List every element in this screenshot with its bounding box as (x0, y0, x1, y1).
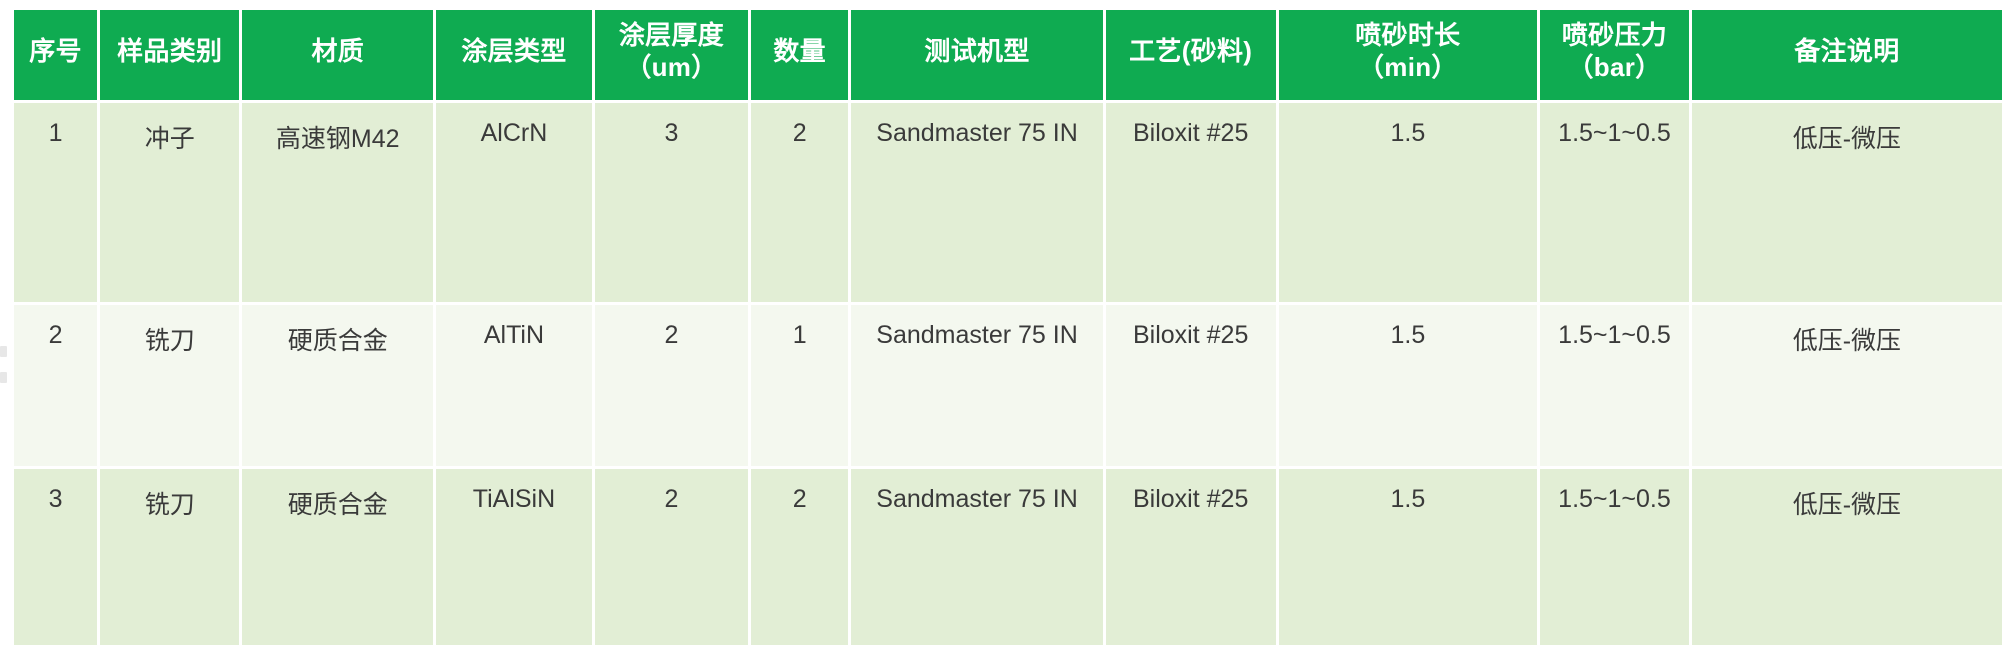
column-header-seq-label: 序号 (29, 36, 82, 66)
cell-sample-category: 冲子 (100, 103, 239, 302)
cell-quantity: 1 (751, 305, 848, 466)
column-header-coating-thickness: 涂层厚度 （um） (595, 10, 748, 100)
column-header-test-machine-label: 测试机型 (924, 36, 1029, 66)
column-header-blast-time-label: 喷砂时长 (1355, 20, 1460, 50)
cut-off-text-artifact (0, 346, 7, 357)
table-row: 2 铣刀 硬质合金 AlTiN 2 1 Sandmaster 75 IN Bil… (14, 305, 2002, 466)
column-header-blast-time-unit: （min） (1281, 52, 1536, 84)
column-header-process-media-label: 工艺(砂料) (1129, 36, 1252, 66)
table-row: 1 冲子 高速钢M42 AlCrN 3 2 Sandmaster 75 IN B… (14, 103, 2002, 302)
column-header-blast-pressure-label: 喷砂压力 (1562, 20, 1667, 50)
cell-coating-thickness: 2 (595, 469, 748, 645)
cell-blast-pressure: 1.5~1~0.5 (1540, 469, 1689, 645)
cell-seq: 2 (14, 305, 97, 466)
cell-coating-type: TiAlSiN (436, 469, 592, 645)
cell-material: 高速钢M42 (242, 103, 433, 302)
spec-table-container: 序号 样品类别 材质 涂层类型 涂层厚度 （um） (11, 7, 2005, 631)
column-header-coating-type: 涂层类型 (436, 10, 592, 100)
cell-coating-thickness: 2 (595, 305, 748, 466)
column-header-material: 材质 (242, 10, 433, 100)
column-header-blast-pressure-unit: （bar） (1542, 52, 1687, 84)
cell-material: 硬质合金 (242, 469, 433, 645)
cell-quantity: 2 (751, 469, 848, 645)
column-header-coating-thickness-label: 涂层厚度 (619, 20, 724, 50)
table-header: 序号 样品类别 材质 涂层类型 涂层厚度 （um） (14, 10, 2002, 100)
cell-sample-category: 铣刀 (100, 305, 239, 466)
cell-remarks: 低压-微压 (1692, 469, 2002, 645)
column-header-quantity: 数量 (751, 10, 848, 100)
column-header-quantity-label: 数量 (773, 36, 826, 66)
cell-coating-thickness: 3 (595, 103, 748, 302)
table-header-row: 序号 样品类别 材质 涂层类型 涂层厚度 （um） (14, 10, 2002, 100)
column-header-sample-category-label: 样品类别 (117, 36, 222, 66)
column-header-coating-thickness-unit: （um） (597, 52, 746, 84)
cell-blast-pressure: 1.5~1~0.5 (1540, 103, 1689, 302)
cell-process-media: Biloxit #25 (1106, 469, 1276, 645)
sandblasting-spec-table: 序号 样品类别 材质 涂层类型 涂层厚度 （um） (11, 7, 2005, 648)
column-header-coating-type-label: 涂层类型 (461, 36, 566, 66)
cell-blast-time: 1.5 (1279, 469, 1538, 645)
cell-blast-pressure: 1.5~1~0.5 (1540, 305, 1689, 466)
column-header-blast-time: 喷砂时长 （min） (1279, 10, 1538, 100)
cell-seq: 3 (14, 469, 97, 645)
column-header-remarks-label: 备注说明 (1794, 36, 1899, 66)
cut-off-text-artifact (0, 372, 7, 383)
cell-process-media: Biloxit #25 (1106, 305, 1276, 466)
table-body: 1 冲子 高速钢M42 AlCrN 3 2 Sandmaster 75 IN B… (14, 103, 2002, 645)
column-header-test-machine: 测试机型 (851, 10, 1103, 100)
cell-coating-type: AlTiN (436, 305, 592, 466)
cell-seq: 1 (14, 103, 97, 302)
cell-process-media: Biloxit #25 (1106, 103, 1276, 302)
column-header-blast-pressure: 喷砂压力 （bar） (1540, 10, 1689, 100)
cell-test-machine: Sandmaster 75 IN (851, 103, 1103, 302)
cell-quantity: 2 (751, 103, 848, 302)
column-header-sample-category: 样品类别 (100, 10, 239, 100)
cell-coating-type: AlCrN (436, 103, 592, 302)
column-header-material-label: 材质 (311, 36, 364, 66)
cell-material: 硬质合金 (242, 305, 433, 466)
column-header-remarks: 备注说明 (1692, 10, 2002, 100)
column-header-seq: 序号 (14, 10, 97, 100)
cell-blast-time: 1.5 (1279, 103, 1538, 302)
cell-remarks: 低压-微压 (1692, 103, 2002, 302)
cell-sample-category: 铣刀 (100, 469, 239, 645)
cell-test-machine: Sandmaster 75 IN (851, 305, 1103, 466)
column-header-process-media: 工艺(砂料) (1106, 10, 1276, 100)
cell-blast-time: 1.5 (1279, 305, 1538, 466)
table-row: 3 铣刀 硬质合金 TiAlSiN 2 2 Sandmaster 75 IN B… (14, 469, 2002, 645)
cell-remarks: 低压-微压 (1692, 305, 2002, 466)
cell-test-machine: Sandmaster 75 IN (851, 469, 1103, 645)
